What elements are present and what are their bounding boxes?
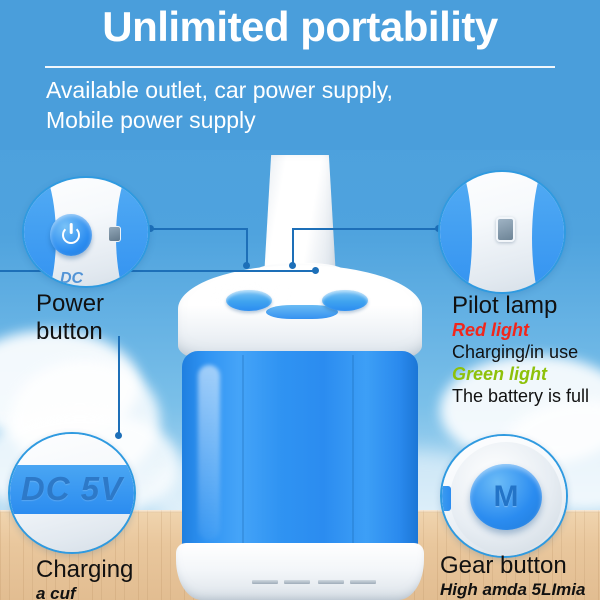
product-device <box>170 155 430 600</box>
power-symbol-glyph <box>62 226 80 244</box>
vent-slot <box>318 580 344 584</box>
pilot-label: Pilot lamp <box>452 292 589 320</box>
charging-sub-label: a cuf <box>36 584 133 600</box>
device-base <box>176 543 424 600</box>
mode-button-letter: M <box>494 480 519 514</box>
subtitle-line-2: Mobile power supply <box>46 106 566 136</box>
callout-blue-arc-left <box>438 170 472 294</box>
body-seam <box>352 355 354 555</box>
indicator-led-icon <box>108 226 121 242</box>
page-subtitle: Available outlet, car power supply, Mobi… <box>46 76 566 136</box>
label-gear-button: Gear button High amda 5LImia <box>440 552 585 600</box>
body-seam <box>242 355 244 555</box>
connector-line-pilot <box>292 228 440 230</box>
connector-line-pilot <box>292 228 294 266</box>
connector-dot-charging <box>312 267 319 274</box>
power-label-line-2: button <box>36 318 104 346</box>
connector-line-power <box>246 228 248 266</box>
body-highlight <box>198 365 220 540</box>
charging-label: Charging <box>36 556 133 584</box>
callout-blue-arc-right <box>532 170 566 294</box>
gear-label: Gear button <box>440 552 585 580</box>
green-light-label: Green light <box>452 364 589 386</box>
callout-dc-text: DC <box>60 270 83 288</box>
vent-slot <box>350 580 376 584</box>
device-spout <box>262 155 338 273</box>
subtitle-line-1: Available outlet, car power supply, <box>46 76 566 106</box>
connector-dot-power <box>243 262 250 269</box>
gear-sub-label: High amda 5LImia <box>440 580 585 600</box>
callout-gear-button: M <box>440 434 568 558</box>
green-light-description: The battery is full <box>452 386 589 408</box>
title-divider <box>45 66 555 68</box>
page-title: Unlimited portability <box>0 5 600 49</box>
pilot-lamp-icon <box>496 217 515 242</box>
dc-5v-text: DC 5V <box>21 470 123 508</box>
power-icon[interactable] <box>50 214 92 256</box>
vent-slot <box>284 580 310 584</box>
connector-dot-pilot <box>289 262 296 269</box>
device-button-right[interactable] <box>322 290 368 311</box>
mode-button-icon[interactable]: M <box>470 464 542 530</box>
label-power-button: Power button <box>36 290 104 346</box>
label-pilot-lamp: Pilot lamp Red light Charging/in use Gre… <box>452 292 589 408</box>
dc-blue-band: DC 5V <box>8 465 136 515</box>
red-light-label: Red light <box>452 320 589 342</box>
connector-line-dc <box>118 336 120 436</box>
callout-pilot-lamp <box>438 170 566 294</box>
device-button-left[interactable] <box>226 290 272 311</box>
vent-slot <box>252 580 278 584</box>
label-charging: Charging a cuf <box>36 556 133 600</box>
connector-line-power <box>150 228 248 230</box>
power-label-line-1: Power <box>36 290 104 318</box>
gear-side-tab <box>440 486 451 511</box>
callout-charging-port: DC 5V <box>8 432 136 554</box>
callout-power-button: DC <box>22 176 150 288</box>
red-light-description: Charging/in use <box>452 342 589 364</box>
